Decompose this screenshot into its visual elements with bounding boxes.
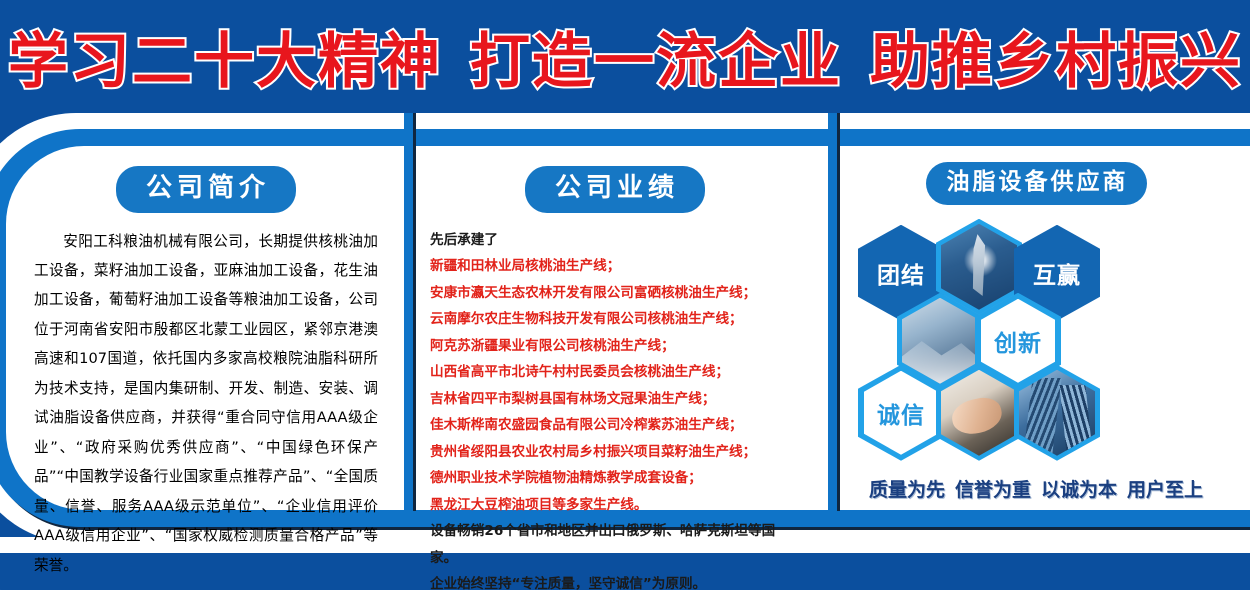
badge-company-achievements: 公司业绩 bbox=[525, 166, 705, 213]
slogan-part: 信誉为重 bbox=[955, 479, 1031, 501]
achievement-item: 山西省高平市北诗午村村民委员会核桃油生产线； bbox=[430, 359, 800, 386]
columns: 公司简介 安阳工科粮油机械有限公司，长期提供核桃油加工设备，菜籽油加工设备，亚麻… bbox=[6, 146, 1250, 510]
skyscraper-icon bbox=[1019, 370, 1095, 456]
aircraft-carrier-icon bbox=[941, 224, 1017, 310]
column-company-intro: 公司简介 安阳工科粮油机械有限公司，长期提供核桃油加工设备，菜籽油加工设备，亚麻… bbox=[6, 146, 404, 510]
badge-company-intro: 公司简介 bbox=[116, 166, 296, 213]
hexagon-cluster: 团结互赢创新诚信 bbox=[836, 219, 1236, 469]
hexagon-label: 诚信 bbox=[877, 396, 925, 430]
slogan-part: 用户至上 bbox=[1127, 479, 1203, 501]
headline-part-3: 助推乡村振兴 bbox=[870, 27, 1242, 97]
hexagon-label: 互赢 bbox=[1033, 256, 1081, 290]
hexagon-label: 创新 bbox=[994, 324, 1042, 358]
achievement-item: 吉林省四平市梨树县国有林场文冠果油生产线； bbox=[430, 386, 800, 413]
achievements-footer-line: 企业始终坚持“专注质量，坚守诚信”为原则。 bbox=[430, 571, 800, 590]
achievement-item: 云南摩尔农庄生物科技开发有限公司核桃油生产线； bbox=[430, 306, 800, 333]
achievement-item: 安康市瀛天生态农林开发有限公司富硒核桃油生产线； bbox=[430, 280, 800, 307]
banner-headline: 学习二十大精神打造一流企业助推乡村振兴 bbox=[0, 13, 1250, 100]
achievement-item: 新疆和田林业局核桃油生产线； bbox=[430, 253, 800, 280]
column-supplier: 油脂设备供应商 团结互赢创新诚信 质量为先信誉为重以诚为本用户至上 bbox=[822, 146, 1250, 510]
badge-supplier: 油脂设备供应商 bbox=[926, 162, 1147, 205]
banner-header: 学习二十大精神打造一流企业助推乡村振兴 bbox=[0, 0, 1250, 113]
headline-part-2: 打造一流企业 bbox=[470, 27, 842, 97]
achievement-item: 贵州省绥阳县农业农村局乡村振兴项目菜籽油生产线； bbox=[430, 439, 800, 466]
handshake-icon bbox=[941, 370, 1017, 456]
slogan-part: 质量为先 bbox=[869, 479, 945, 501]
achievement-item: 黑龙江大豆榨油项目等多家生产线。 bbox=[430, 492, 800, 519]
headline-part-1: 学习二十大精神 bbox=[8, 27, 442, 97]
achievements-lead: 先后承建了 bbox=[430, 227, 800, 254]
success-mountain-icon bbox=[902, 298, 978, 384]
achievement-item: 德州职业技术学院植物油精炼教学成套设备； bbox=[430, 465, 800, 492]
achievements-footer-line: 设备畅销26个省市和地区并出口俄罗斯、哈萨克斯坦等国家。 bbox=[430, 518, 800, 571]
achievements-list: 新疆和田林业局核桃油生产线；安康市瀛天生态农林开发有限公司富硒核桃油生产线；云南… bbox=[430, 253, 800, 518]
supplier-slogan: 质量为先信誉为重以诚为本用户至上 bbox=[836, 475, 1236, 502]
hexagon-label: 团结 bbox=[877, 256, 925, 290]
achievements-footer: 设备畅销26个省市和地区并出口俄罗斯、哈萨克斯坦等国家。企业始终坚持“专注质量，… bbox=[430, 518, 800, 590]
divider-left-middle bbox=[404, 113, 413, 511]
content-plate: 公司简介 安阳工科粮油机械有限公司，长期提供核桃油加工设备，菜籽油加工设备，亚麻… bbox=[0, 113, 1250, 590]
achievement-item: 佳木斯桦南农盛园食品有限公司冷榨紫苏油生产线； bbox=[430, 412, 800, 439]
column-company-achievements: 公司业绩 先后承建了 新疆和田林业局核桃油生产线；安康市瀛天生态农林开发有限公司… bbox=[404, 146, 822, 510]
divider-middle-right bbox=[828, 113, 837, 511]
company-intro-text: 安阳工科粮油机械有限公司，长期提供核桃油加工设备，菜籽油加工设备，亚麻油加工设备… bbox=[34, 227, 378, 581]
slogan-part: 以诚为本 bbox=[1041, 479, 1117, 501]
achievement-item: 阿克苏浙疆果业有限公司核桃油生产线； bbox=[430, 333, 800, 360]
poster-root: 学习二十大精神打造一流企业助推乡村振兴 公司简介 安阳工科粮油机械有限公司，长期… bbox=[0, 0, 1250, 590]
